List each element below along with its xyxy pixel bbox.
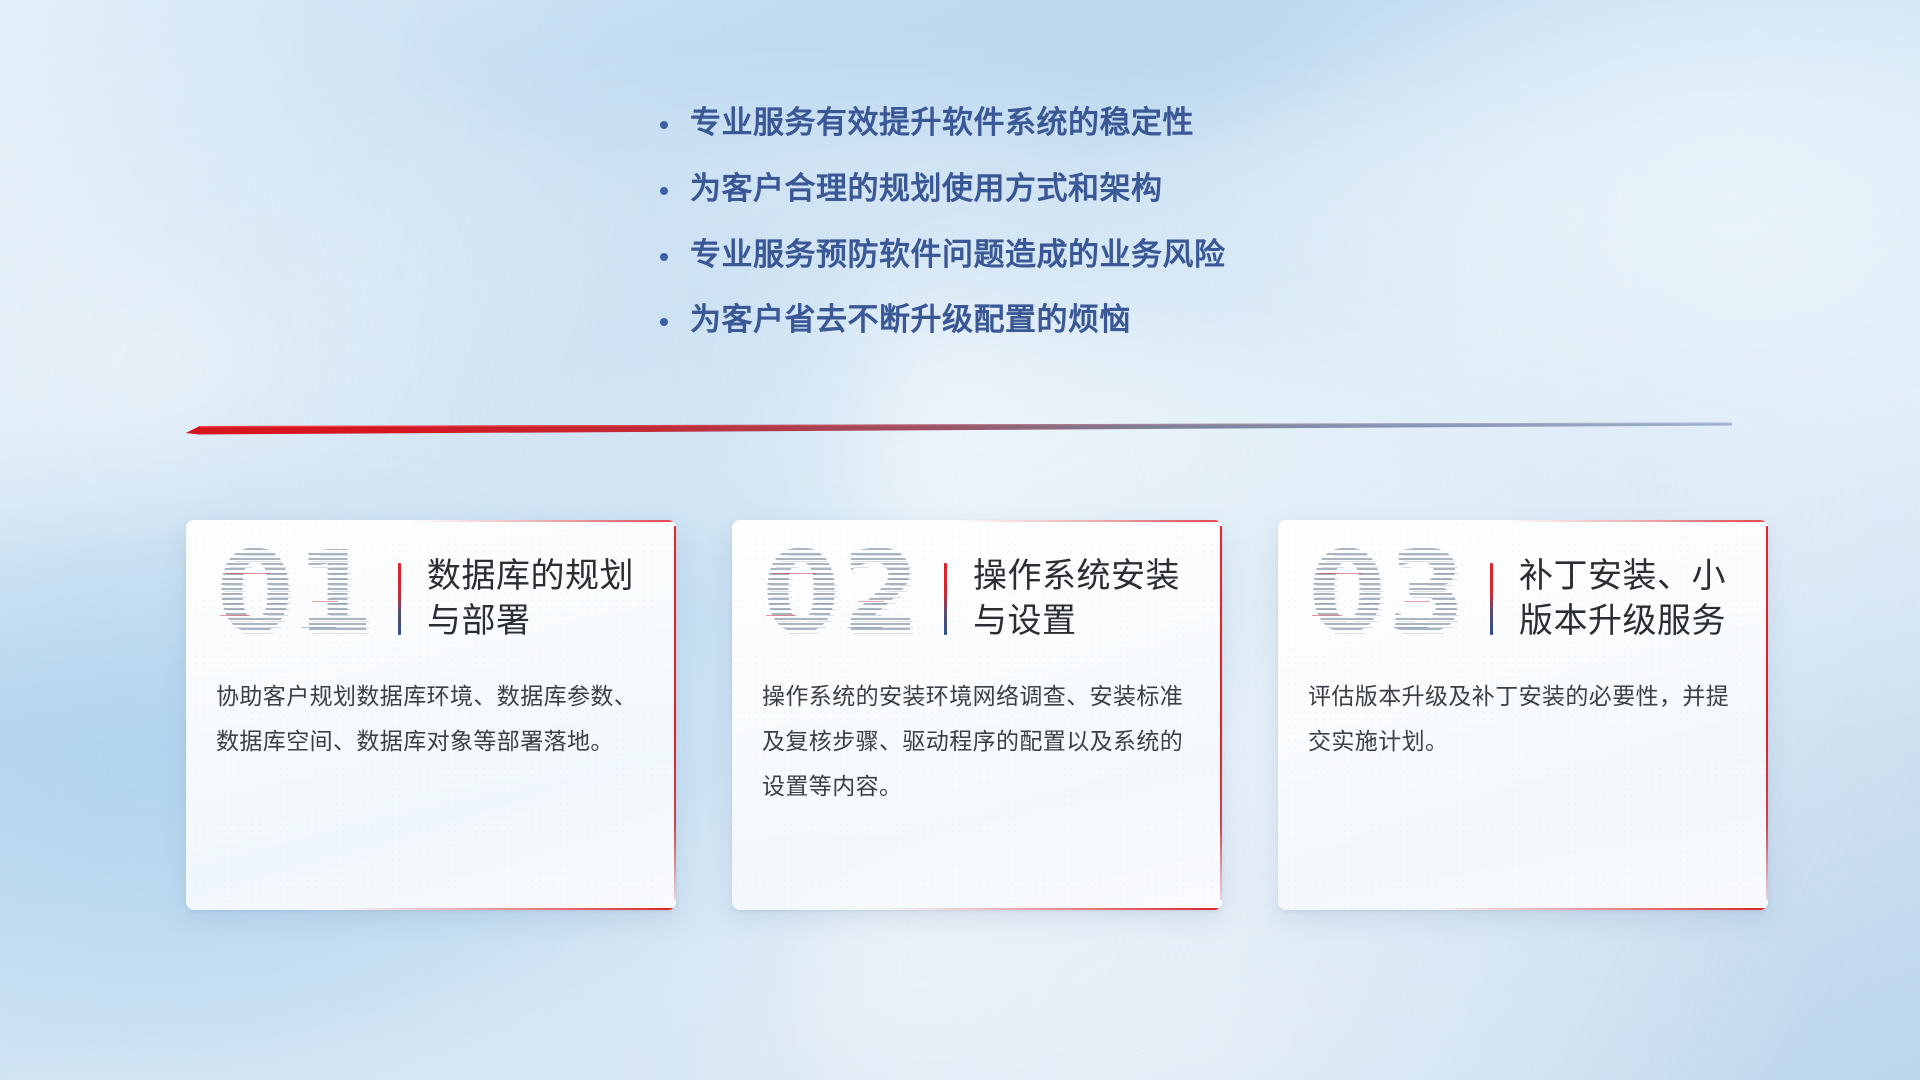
bullet-list: 专业服务有效提升软件系统的稳定性 为客户合理的规划使用方式和架构 专业服务预防软… [660, 104, 1480, 367]
card-number-glitch-tick [312, 601, 338, 602]
bullet-dot-icon [660, 176, 690, 199]
card-number-glitch-tick [766, 615, 796, 616]
bullet-item: 为客户合理的规划使用方式和架构 [660, 170, 1480, 209]
card-number-glitch-tick [1318, 573, 1362, 574]
card-number-text: 02 [762, 533, 922, 653]
card-number-glitch-tick [772, 573, 816, 574]
card-number-glitch-tick [220, 615, 250, 616]
feature-card[interactable]: 03 03 补丁安装、小版本升级服务 评估版本升级及补丁安装的必要性，并提交实施… [1278, 520, 1768, 910]
card-bottom-accent-line [892, 908, 1220, 910]
section-divider [186, 420, 1732, 446]
bullet-dot-icon [660, 307, 690, 330]
card-bottom-accent-line [1438, 908, 1766, 910]
card-body-text: 操作系统的安装环境网络调查、安装标准及复核步骤、驱动程序的配置以及系统的设置等内… [732, 648, 1222, 809]
feature-card[interactable]: 01 01 数据库的规划与部署 协助客户规划数据库环境、数据库参数、数据库空间、… [186, 520, 676, 910]
card-title: 补丁安装、小版本升级服务 [1519, 554, 1742, 644]
card-number-text: 03 [1308, 533, 1468, 653]
card-number-glitch-tick [1394, 627, 1428, 628]
card-number-watermark: 02 02 [762, 539, 944, 659]
card-title-rule [944, 563, 947, 635]
slide-root: 专业服务有效提升软件系统的稳定性 为客户合理的规划使用方式和架构 专业服务预防软… [0, 0, 1920, 1080]
bullet-dot-icon [660, 242, 690, 265]
card-number-glitch-tick [848, 627, 882, 628]
card-number-glitch-tick [1312, 615, 1342, 616]
feature-card[interactable]: 02 02 操作系统安装与设置 操作系统的安装环境网络调查、安装标准及复核步骤、… [732, 520, 1222, 910]
card-body-text: 协助客户规划数据库环境、数据库参数、数据库空间、数据库对象等部署落地。 [186, 648, 676, 764]
bullet-dot-icon [660, 110, 690, 133]
card-title: 数据库的规划与部署 [427, 554, 650, 644]
feature-card-list: 01 01 数据库的规划与部署 协助客户规划数据库环境、数据库参数、数据库空间、… [186, 520, 1796, 920]
card-number-glitch-tick [858, 601, 884, 602]
bullet-item-text: 专业服务有效提升软件系统的稳定性 [690, 104, 1194, 143]
bullet-item: 专业服务有效提升软件系统的稳定性 [660, 104, 1480, 143]
card-header: 02 02 操作系统安装与设置 [732, 520, 1222, 648]
card-number-text: 01 [216, 533, 376, 653]
card-header: 01 01 数据库的规划与部署 [186, 520, 676, 648]
card-number-glitch-tick [226, 573, 270, 574]
card-bottom-accent-line [346, 908, 674, 910]
bullet-item-text: 为客户合理的规划使用方式和架构 [690, 170, 1163, 209]
bullet-item-text: 专业服务预防软件问题造成的业务风险 [690, 236, 1226, 275]
card-body-text: 评估版本升级及补丁安装的必要性，并提交实施计划。 [1278, 648, 1768, 764]
card-header: 03 03 补丁安装、小版本升级服务 [1278, 520, 1768, 648]
card-number-watermark: 01 01 [216, 539, 398, 659]
card-title-rule [398, 563, 401, 635]
bullet-item: 专业服务预防软件问题造成的业务风险 [660, 236, 1480, 275]
bullet-item-text: 为客户省去不断升级配置的烦恼 [690, 301, 1131, 340]
card-number-watermark: 03 03 [1308, 539, 1490, 659]
bullet-item: 为客户省去不断升级配置的烦恼 [660, 301, 1480, 340]
card-number-glitch-tick [1404, 601, 1430, 602]
card-title-rule [1490, 563, 1493, 635]
card-number-glitch-tick [302, 627, 336, 628]
card-title: 操作系统安装与设置 [973, 554, 1196, 644]
